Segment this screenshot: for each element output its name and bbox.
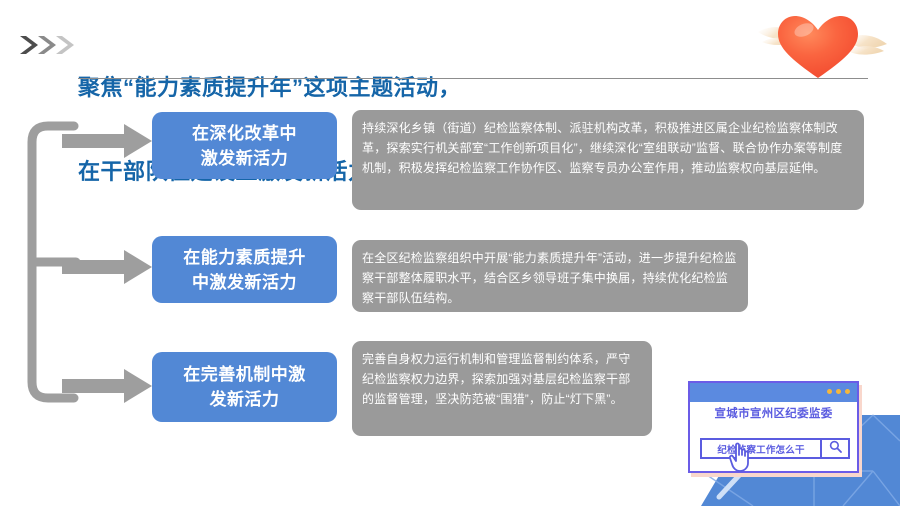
flow-label-text-2: 在能力素质提升 中激发新活力: [183, 245, 306, 295]
flow-label-box-2[interactable]: 在能力素质提升 中激发新活力: [152, 236, 337, 303]
browser-titlebar: [690, 383, 857, 402]
flow-description-box-2: 在全区纪检监察组织中开展“能力素质提升年”活动，进一步提升纪检监察干部整体履职水…: [352, 240, 748, 312]
search-button[interactable]: [820, 440, 848, 457]
website-illustration: 宣城市宣州区纪委监委 纪检监察工作怎么干: [683, 375, 900, 506]
arrow-right-icon: [62, 366, 154, 406]
flow-label-text-1: 在深化改革中 激发新活力: [192, 121, 297, 171]
search-input[interactable]: 纪检监察工作怎么干: [702, 440, 820, 457]
flow-description-text-3: 完善自身权力运行机制和管理监督制约体系，严守纪检监察权力边界，探索加强对基层纪检…: [362, 352, 630, 406]
arrow-right-icon: [62, 247, 154, 287]
browser-window-mockup: 宣城市宣州区纪委监委 纪检监察工作怎么干: [688, 381, 859, 473]
window-dots-icon: [827, 389, 850, 394]
flow-label-text-3: 在完善机制中激 发新活力: [183, 362, 306, 412]
triple-chevron-right-icon: [16, 30, 78, 60]
flow-description-text-2: 在全区纪检监察组织中开展“能力素质提升年”活动，进一步提升纪检监察干部整体履职水…: [362, 251, 736, 305]
flow-label-box-3[interactable]: 在完善机制中激 发新活力: [152, 352, 337, 422]
search-icon: [829, 440, 842, 458]
search-bar[interactable]: 纪检监察工作怎么干: [700, 438, 850, 459]
hand-cursor-icon: [728, 441, 754, 473]
flow-description-box-1: 持续深化乡镇（街道）纪检监察体制、派驻机构改革，积极推进区属企业纪检监察体制改革…: [352, 110, 864, 210]
arrow-right-icon: [62, 121, 154, 161]
winged-heart-icon: [748, 6, 896, 84]
flow-description-text-1: 持续深化乡镇（街道）纪检监察体制、派驻机构改革，积极推进区属企业纪检监察体制改革…: [362, 121, 842, 175]
flow-label-box-1[interactable]: 在深化改革中 激发新活力: [152, 112, 337, 179]
flow-description-box-3: 完善自身权力运行机制和管理监督制约体系，严守纪检监察权力边界，探索加强对基层纪检…: [352, 341, 652, 436]
slide-canvas: 聚焦“能力素质提升年”这项主题活动， 在干部队伍建设上激发新活力: [0, 0, 900, 506]
site-title: 宣城市宣州区纪委监委: [690, 405, 857, 421]
